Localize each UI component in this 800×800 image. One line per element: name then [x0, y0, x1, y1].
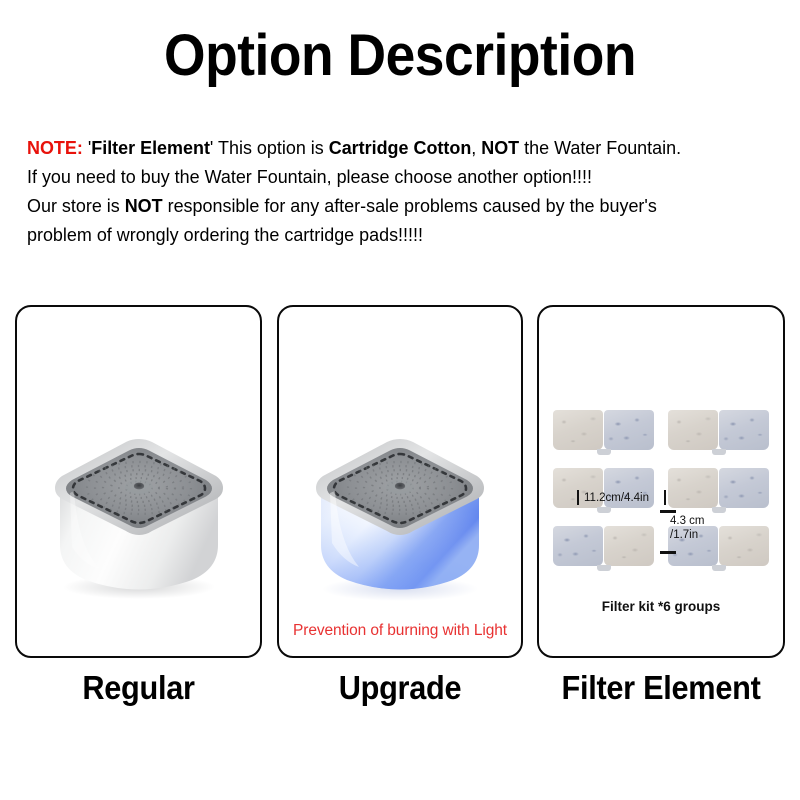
- note-line3-c: responsible for any after-sale problems …: [163, 195, 657, 216]
- pet-water-fountain-blue-led-illustration: [295, 419, 505, 609]
- product-panels: Prevention of burning with Light: [15, 305, 785, 658]
- filter-pad-beige: [719, 526, 769, 566]
- product-panel-filter-element[interactable]: 11.2cm/4.4in 4.3 cm /1.7in Filter kit *6…: [537, 305, 785, 658]
- note-line3-a: Our store is: [27, 195, 125, 216]
- filter-pad-beige: [553, 410, 603, 450]
- note-line-2: If you need to buy the Water Fountain, p…: [27, 162, 764, 191]
- filter-row: [553, 410, 769, 454]
- filter-pad-blue: [604, 410, 654, 450]
- panel-caption-regular: Regular: [24, 668, 254, 708]
- note-label: NOTE:: [27, 137, 83, 158]
- note-not-bold-1: NOT: [481, 137, 519, 158]
- filter-pad-tab: [597, 449, 611, 455]
- filter-pad-beige: [668, 468, 718, 508]
- note-line-1: NOTE: 'Filter Element' This option is Ca…: [27, 133, 764, 162]
- note-filter-element-bold: Filter Element: [91, 137, 210, 158]
- filter-unit[interactable]: [553, 526, 654, 570]
- dimension-tick-height-top: [660, 510, 676, 513]
- filter-unit[interactable]: [553, 410, 654, 454]
- note-line1-c: ,: [471, 137, 481, 158]
- dimension-tick-width-right: [664, 490, 666, 505]
- filter-pad-blue: [719, 410, 769, 450]
- note-block: NOTE: 'Filter Element' This option is Ca…: [27, 133, 764, 249]
- filter-pad-tab: [597, 565, 611, 571]
- dimension-label-height-line1: 4.3 cm: [670, 514, 705, 528]
- note-line-3: Our store is NOT responsible for any aft…: [27, 191, 764, 220]
- filter-pad-beige: [668, 410, 718, 450]
- note-cartridge-cotton-bold: Cartridge Cotton: [329, 137, 472, 158]
- panel-caption-filter-element: Filter Element: [546, 668, 777, 708]
- dimension-label-height: 4.3 cm /1.7in: [670, 514, 705, 542]
- note-quote-open: ': [83, 137, 91, 158]
- dimension-label-height-line2: /1.7in: [670, 528, 705, 542]
- panel-caption-upgrade: Upgrade: [286, 668, 515, 708]
- upgrade-light-caption: Prevention of burning with Light: [279, 622, 521, 640]
- filter-row: [553, 468, 769, 512]
- filter-pad-blue: [553, 526, 603, 566]
- filter-row: [553, 526, 769, 570]
- pet-water-fountain-white-illustration: [34, 419, 244, 609]
- filter-pad-tab: [712, 449, 726, 455]
- note-not-bold-2: NOT: [125, 195, 163, 216]
- filter-unit[interactable]: [668, 468, 769, 512]
- dimension-label-width: 11.2cm/4.4in: [584, 491, 649, 505]
- note-line1-e: the Water Fountain.: [519, 137, 681, 158]
- filter-pad-blue: [719, 468, 769, 508]
- filter-unit[interactable]: [668, 410, 769, 454]
- page-title: Option Description: [32, 24, 768, 88]
- filter-pad-tab: [712, 507, 726, 513]
- product-panel-upgrade[interactable]: Prevention of burning with Light: [277, 305, 523, 658]
- product-panel-regular[interactable]: [15, 305, 262, 658]
- filter-kit-caption: Filter kit *6 groups: [539, 599, 783, 614]
- dimension-tick-width-left: [577, 490, 579, 505]
- note-quote-close: ': [210, 137, 218, 158]
- filter-pad-tab: [712, 565, 726, 571]
- filter-pad-beige: [604, 526, 654, 566]
- filter-unit[interactable]: [553, 468, 654, 512]
- panel-captions-row: Regular Upgrade Filter Element: [0, 668, 800, 716]
- dimension-tick-height-bottom: [660, 551, 676, 554]
- note-line1-a: This option is: [218, 137, 329, 158]
- filter-pad-tab: [597, 507, 611, 513]
- filter-kit-grid: 11.2cm/4.4in 4.3 cm /1.7in: [553, 410, 769, 590]
- note-line-4: problem of wrongly ordering the cartridg…: [27, 220, 764, 249]
